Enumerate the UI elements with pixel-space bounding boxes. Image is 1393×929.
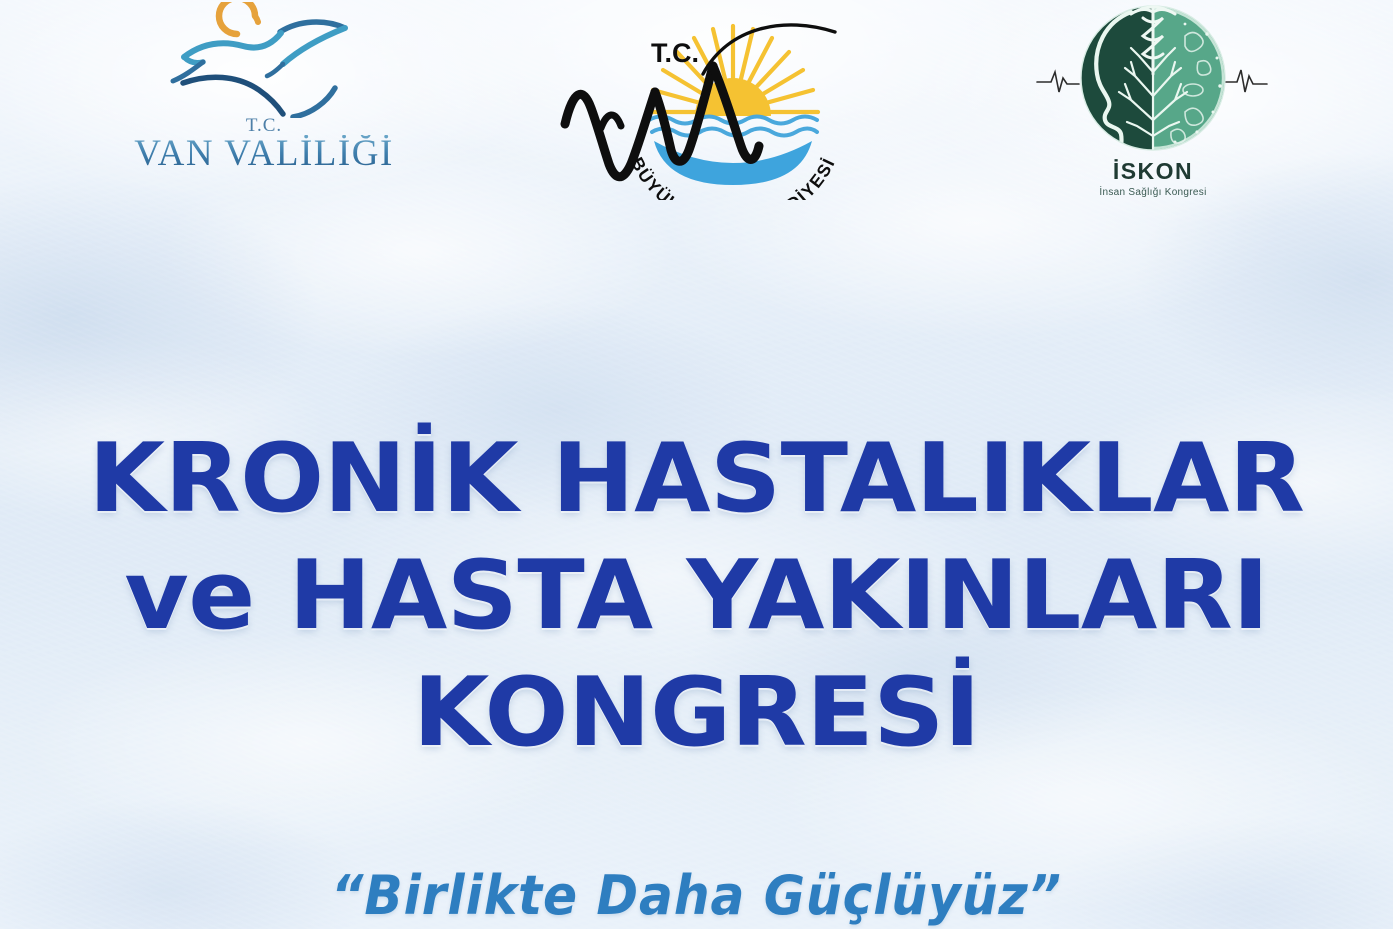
headline-line-1: KRONİK HASTALIKLAR [0, 432, 1393, 527]
page-title: KRONİK HASTALIKLAR ve HASTA YAKINLARI KO… [0, 432, 1393, 761]
logo-van-valiligi: T.C. VAN VALİLİĞİ [128, 2, 400, 174]
iskon-subtitle-label: İnsan Sağlığı Kongresi [1099, 187, 1206, 198]
iskon-name-label: İSKON [1113, 160, 1193, 183]
logo-strip: T.C. VAN VALİLİĞİ [0, 0, 1393, 222]
tagline: “Birlikte Daha Güçlüyüz” [49, 869, 1344, 923]
valilik-name-label: VAN VALİLİĞİ [134, 135, 394, 174]
headline-line-2: ve HASTA YAKINLARI [0, 549, 1393, 644]
abstract-bird-sun-icon [159, 2, 369, 118]
headline-line-3: KONGRESİ [0, 666, 1393, 761]
logo-iskon: İSKON İnsan Sağlığı Kongresi [1028, 0, 1278, 198]
congress-poster: T.C. VAN VALİLİĞİ [0, 0, 1393, 929]
logo-van-buyuksehir-belediyesi: T.C. BÜYÜKŞEHİR BELEDİYESİ [548, 4, 898, 200]
sun-over-water-icon: T.C. BÜYÜKŞEHİR BELEDİYESİ [553, 4, 893, 200]
buyuksehir-tc-label: T.C. [651, 38, 699, 68]
